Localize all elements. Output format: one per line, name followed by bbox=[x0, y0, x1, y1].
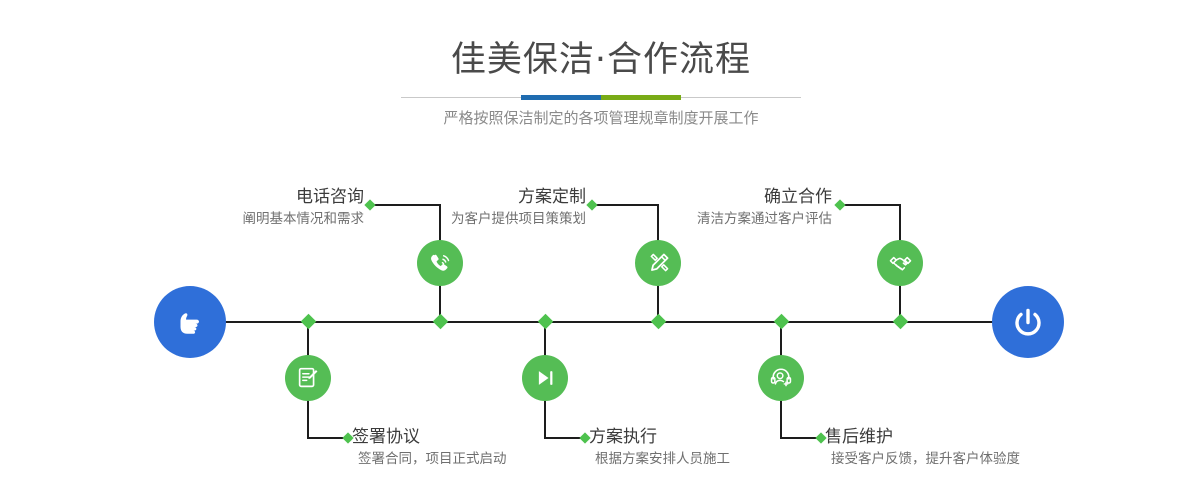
page-subtitle: 严格按照保洁制定的各项管理规章制度开展工作 bbox=[0, 106, 1202, 130]
axis-diamond-4 bbox=[538, 314, 554, 330]
step-icon-4 bbox=[522, 355, 568, 401]
page-title: 佳美保洁·合作流程 bbox=[0, 38, 1202, 82]
handshake-icon bbox=[887, 250, 914, 277]
step-desc-6: 接受客户反馈，提升客户体验度 bbox=[825, 448, 1185, 470]
step-title-5: 确立合作 bbox=[530, 186, 832, 208]
divider-blue-segment bbox=[521, 95, 601, 100]
axis-diamond-6 bbox=[774, 314, 790, 330]
process-flow-infographic: 佳美保洁·合作流程 严格按照保洁制定的各项管理规章制度开展工作 bbox=[0, 0, 1202, 502]
play-execute-icon bbox=[532, 365, 558, 391]
step-icon-3 bbox=[635, 240, 681, 286]
start-endpoint bbox=[154, 286, 226, 358]
title-divider bbox=[401, 95, 801, 100]
power-icon bbox=[1008, 302, 1048, 342]
step-label-5: 确立合作 清洁方案通过客户评估 bbox=[530, 186, 832, 230]
step-icon-1 bbox=[417, 240, 463, 286]
axis-diamond-5 bbox=[893, 314, 909, 330]
step-icon-5 bbox=[877, 240, 923, 286]
step-icon-2 bbox=[285, 355, 331, 401]
step-label-6: 售后维护 接受客户反馈，提升客户体验度 bbox=[825, 426, 1185, 470]
step-desc-5: 清洁方案通过客户评估 bbox=[530, 208, 832, 230]
pointing-hand-icon bbox=[170, 302, 210, 342]
end-endpoint bbox=[992, 286, 1064, 358]
divider-green-segment bbox=[601, 95, 681, 100]
sign-document-icon bbox=[295, 365, 321, 391]
customer-service-icon bbox=[768, 365, 794, 391]
step-icon-6 bbox=[758, 355, 804, 401]
axis-diamond-1 bbox=[433, 314, 449, 330]
connector-arm-5 bbox=[840, 204, 901, 206]
axis-diamond-3 bbox=[651, 314, 667, 330]
axis-diamond-2 bbox=[301, 314, 317, 330]
phone-call-icon bbox=[427, 250, 454, 277]
connector-arm-2 bbox=[307, 437, 347, 439]
pencil-design-icon bbox=[645, 250, 672, 277]
label-diamond-5 bbox=[834, 199, 845, 210]
step-title-6: 售后维护 bbox=[825, 426, 1185, 448]
